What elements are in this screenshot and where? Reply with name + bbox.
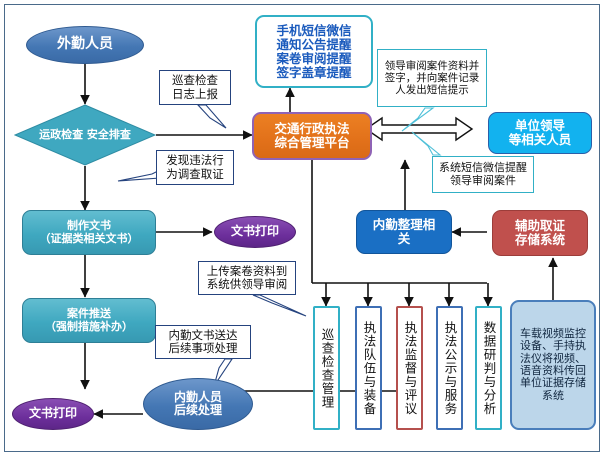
node-evidence-storage[interactable]: 辅助取证 存储系统 [492, 210, 588, 256]
callout-violation-evidence: 发现违法行 为调查取证 [156, 150, 234, 185]
node-print-document-top[interactable]: 文书打印 [214, 216, 296, 248]
node-make-document-label: 制作文书 （证据类相关文书） [40, 220, 139, 245]
node-evidence-storage-label: 辅助取证 存储系统 [515, 219, 565, 247]
flowchart-canvas: 外勤人员 运政检查 安全排查 制作文书 （证据类相关文书） 案件推送 （强制措施… [0, 0, 606, 458]
node-print-document-bottom-label: 文书打印 [29, 407, 77, 420]
vbox-patrol-management-label: 巡查检查管理 [320, 328, 334, 409]
callout-office-delivery: 内勤文书送达 后续事项处理 [155, 325, 251, 359]
callout-leader-review-label: 领导审阅案件资料并签字，并向案件记录人发出短信提示 [381, 60, 483, 96]
vbox-data-analysis-label: 数据研判与分析 [482, 321, 496, 416]
node-unit-leaders-label: 单位领导 等相关人员 [509, 119, 572, 147]
node-platform[interactable]: 交通行政执法 综合管理平台 [252, 112, 372, 160]
vbox-enforcement-team[interactable]: 执法队伍与装备 [355, 306, 382, 430]
vbox-enforcement-team-label: 执法队伍与装备 [362, 321, 376, 416]
callout-leader-review: 领导审阅案件资料并签字，并向案件记录人发出短信提示 [377, 49, 487, 107]
node-print-document-top-label: 文书打印 [231, 225, 279, 238]
callout-upload-case-files: 上传案卷资料到 系统供领导审阅 [198, 261, 296, 295]
node-print-document-bottom[interactable]: 文书打印 [12, 398, 94, 430]
callout-patrol-log: 巡查检查 日志上报 [159, 70, 231, 105]
callout-upload-case-files-label: 上传案卷资料到 系统供领导审阅 [207, 265, 288, 291]
node-field-staff[interactable]: 外勤人员 [26, 26, 144, 64]
callout-sms-remind-leader: 系统短信微信提醒领导审阅案件 [432, 156, 534, 193]
vbox-patrol-management[interactable]: 巡查检查管理 [313, 306, 340, 430]
node-sms-wechat-reminders-label: 手机短信微信 通知公告提醒 案卷审阅提醒 签字盖章提醒 [276, 24, 351, 80]
node-platform-label: 交通行政执法 综合管理平台 [274, 122, 349, 150]
node-inspection-decision-label: 运政检查 安全排查 [14, 104, 156, 166]
vbox-public-disclosure[interactable]: 执法公示与服务 [436, 306, 463, 430]
node-make-document[interactable]: 制作文书 （证据类相关文书） [22, 210, 156, 255]
callout-violation-evidence-label: 发现违法行 为调查取证 [166, 154, 224, 180]
callout-office-delivery-label: 内勤文书送达 后续事项处理 [169, 329, 238, 355]
node-office-staff-label: 内勤人员 后续处理 [174, 391, 222, 418]
vbox-public-disclosure-label: 执法公示与服务 [443, 321, 457, 416]
node-office-staff[interactable]: 内勤人员 后续处理 [143, 378, 253, 430]
callout-sms-remind-leader-label: 系统短信微信提醒领导审阅案件 [436, 162, 530, 187]
node-inspection-decision[interactable]: 运政检查 安全排查 [14, 104, 156, 166]
callout-patrol-log-label: 巡查检查 日志上报 [172, 74, 218, 100]
node-case-push[interactable]: 案件推送 （强制措施补办） [22, 298, 156, 343]
vbox-supervision-evaluation-label: 执法监督与评议 [403, 321, 417, 416]
vbox-supervision-evaluation[interactable]: 执法监督与评议 [396, 306, 423, 430]
vbox-data-analysis[interactable]: 数据研判与分析 [475, 306, 502, 430]
node-vehicle-video[interactable]: 车载视频监控设备、手持执法仪将视频、语音资料传回单位证据存储系统 [510, 300, 596, 430]
node-field-staff-label: 外勤人员 [57, 37, 113, 53]
node-vehicle-video-label: 车载视频监控设备、手持执法仪将视频、语音资料传回单位证据存储系统 [517, 328, 589, 402]
node-office-organize[interactable]: 内勤整理相 关 [356, 210, 452, 254]
node-office-organize-label: 内勤整理相 关 [373, 218, 436, 246]
node-unit-leaders[interactable]: 单位领导 等相关人员 [488, 112, 592, 154]
node-sms-wechat-reminders[interactable]: 手机短信微信 通知公告提醒 案卷审阅提醒 签字盖章提醒 [255, 15, 373, 88]
node-case-push-label: 案件推送 （强制措施补办） [45, 308, 133, 333]
